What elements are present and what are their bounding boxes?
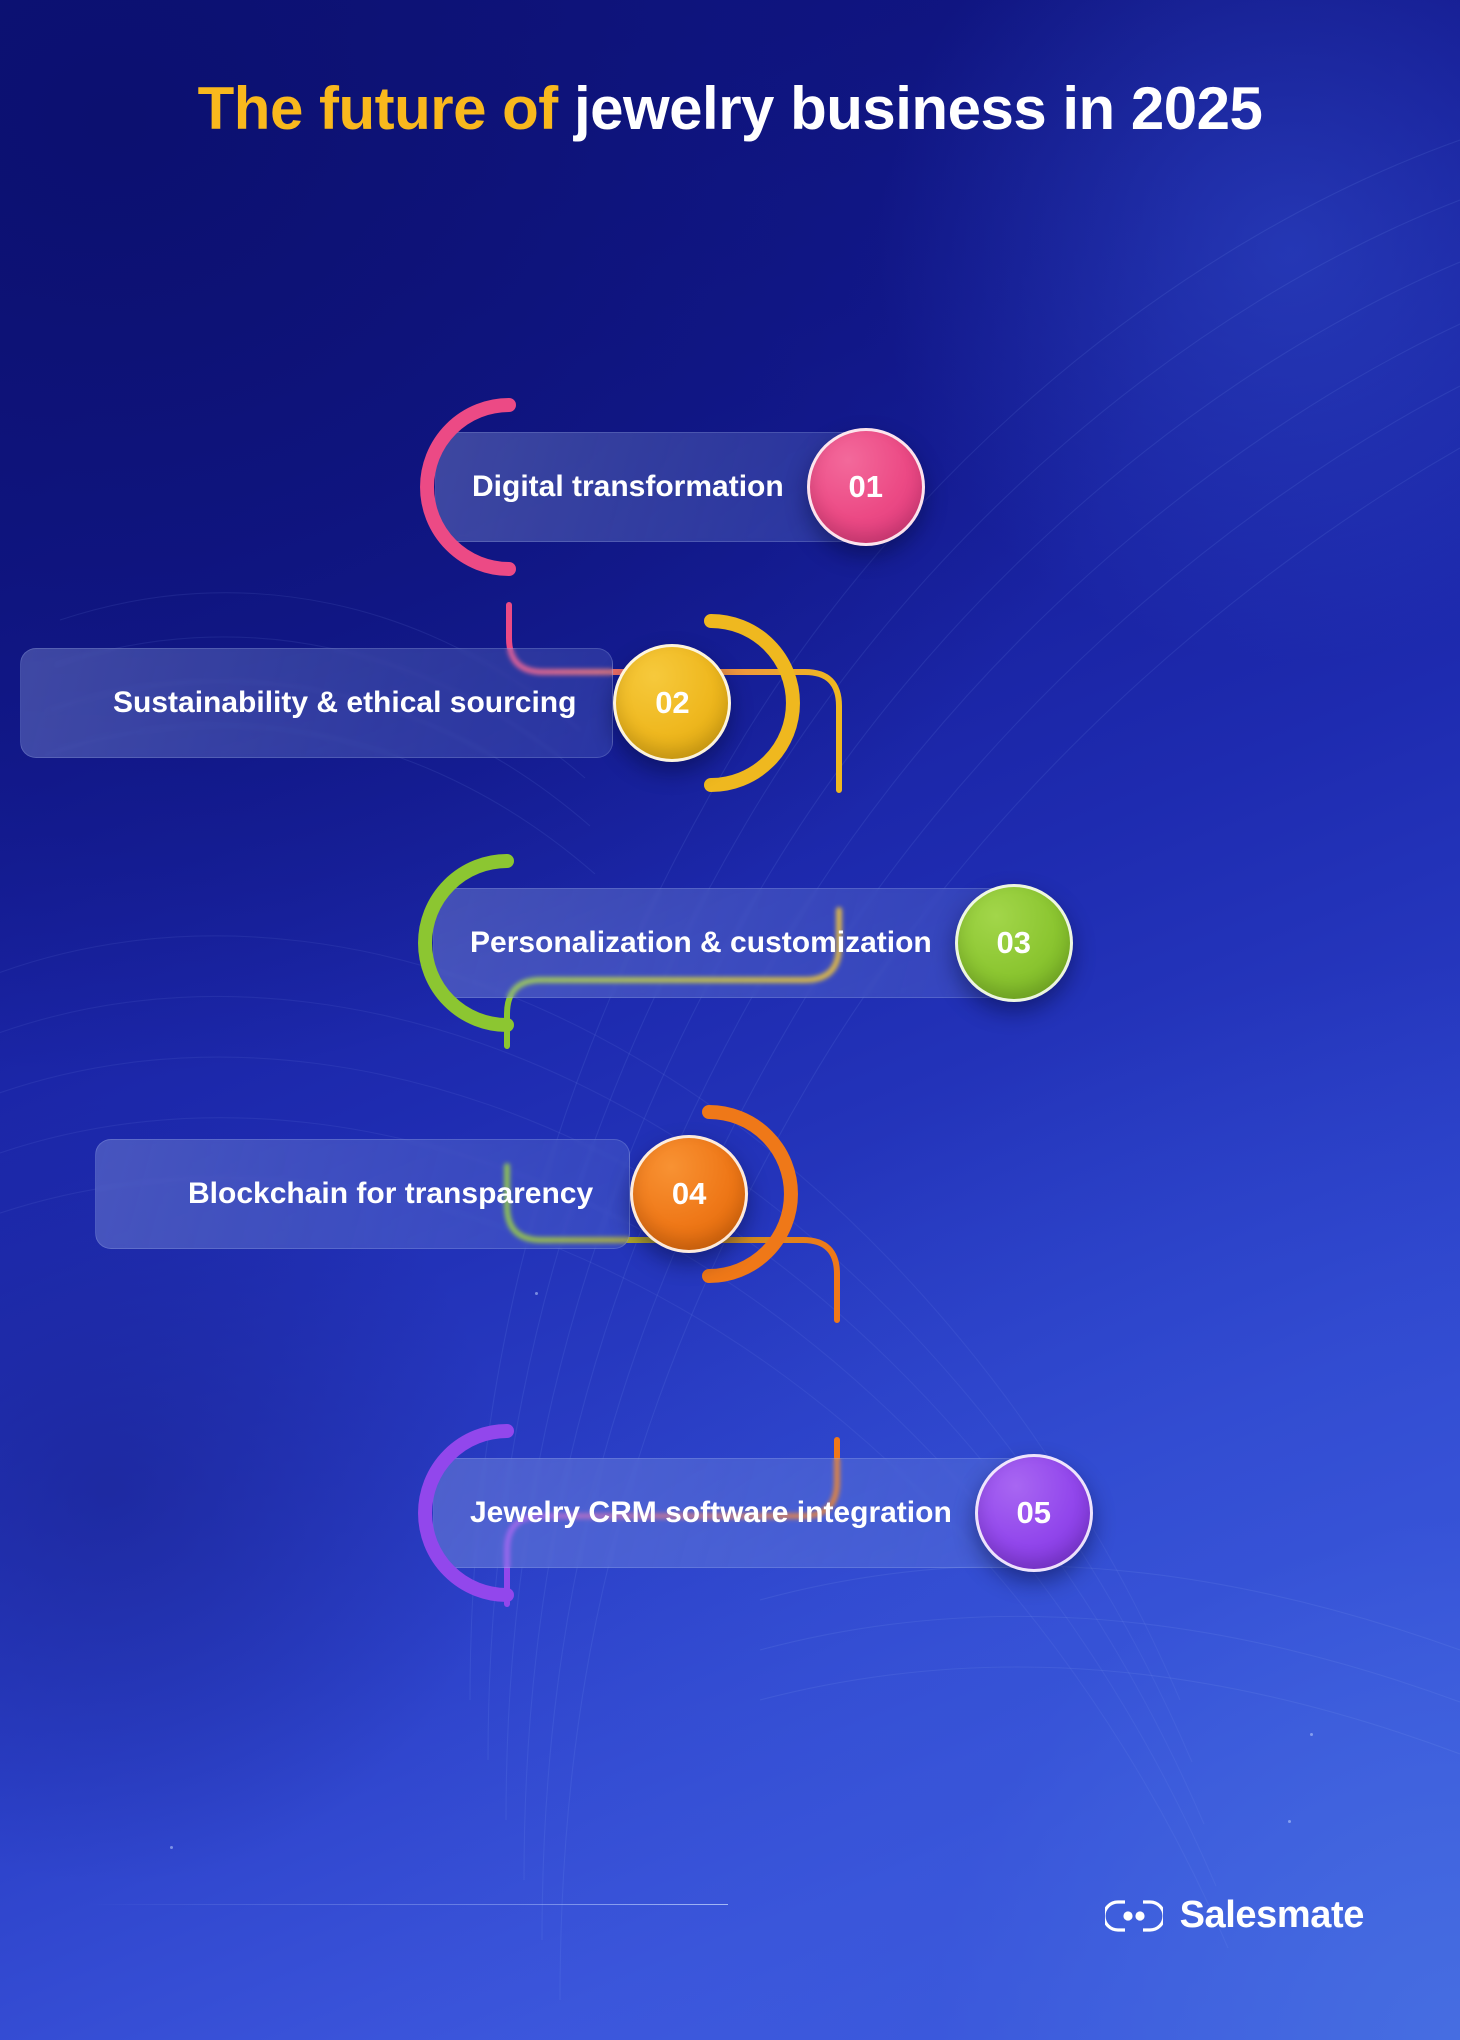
step-number-02: 02	[655, 685, 689, 721]
step-label-pill-02[interactable]: Sustainability & ethical sourcing	[20, 648, 613, 758]
step-number-bubble-01: 01	[807, 428, 925, 546]
step-label-pill-04[interactable]: Blockchain for transparency	[95, 1139, 630, 1249]
step-item-01[interactable]: 01 Digital transformation	[435, 427, 925, 547]
step-number-01: 01	[848, 469, 882, 505]
infographic-poster: The future of jewelry business in 2025	[0, 0, 1460, 2040]
step-number-bubble-04: 04	[630, 1135, 748, 1253]
step-label-04: Blockchain for transparency	[188, 1177, 593, 1211]
step-label-pill-03[interactable]: Personalization & customization	[433, 888, 1025, 998]
step-label-01: Digital transformation	[472, 470, 784, 504]
step-number-bubble-02: 02	[613, 644, 731, 762]
step-number-bubble-05: 05	[975, 1454, 1093, 1572]
step-number-04: 04	[672, 1176, 706, 1212]
step-item-02[interactable]: Sustainability & ethical sourcing 02	[90, 643, 731, 763]
steps-flow: 01 Digital transformation Sustainability…	[0, 0, 1460, 2040]
step-number-03: 03	[996, 925, 1030, 961]
step-label-03: Personalization & customization	[470, 926, 932, 960]
step-number-bubble-03: 03	[955, 884, 1073, 1002]
step-number-05: 05	[1017, 1495, 1051, 1531]
footer-divider	[88, 1904, 728, 1905]
salesmate-link-icon	[1105, 1896, 1163, 1936]
brand-logo: Salesmate	[1105, 1894, 1364, 1937]
step-item-04[interactable]: Blockchain for transparency 04	[165, 1134, 748, 1254]
step-label-02: Sustainability & ethical sourcing	[113, 686, 576, 720]
step-item-05[interactable]: 05 Jewelry CRM software integration	[433, 1453, 1093, 1573]
brand-name: Salesmate	[1180, 1894, 1364, 1937]
step-item-03[interactable]: 03 Personalization & customization	[433, 883, 1073, 1003]
step-connectors	[0, 0, 1460, 2040]
step-label-pill-05[interactable]: Jewelry CRM software integration	[433, 1458, 1045, 1568]
step-label-05: Jewelry CRM software integration	[470, 1496, 952, 1530]
